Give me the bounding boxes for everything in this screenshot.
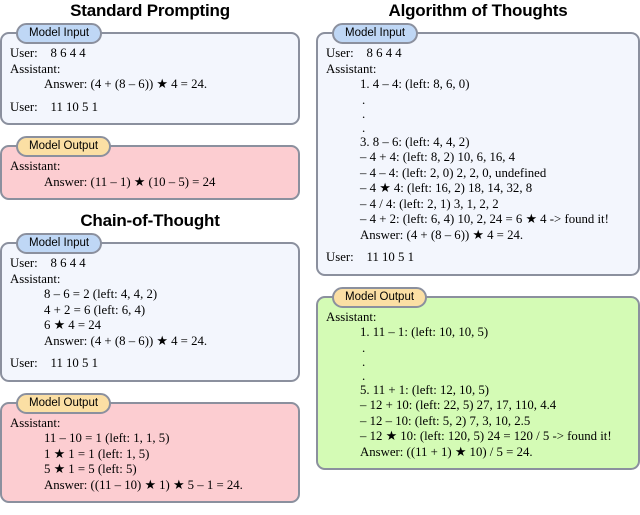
panel-model-output: Model OutputAssistant:1. 11 – 1: (left: … <box>316 296 640 471</box>
panel-body: User: 8 6 4 4Assistant:1. 4 – 4: (left: … <box>318 34 638 274</box>
transcript-line: Answer: ((11 + 1) ★ 10) / 5 = 24. <box>326 445 630 461</box>
role-label: User: <box>326 250 354 266</box>
ellipsis-dot: . <box>326 121 630 135</box>
transcript-line: 5. 11 + 1: (left: 12, 10, 5) <box>326 383 630 399</box>
transcript-role-line: Assistant: <box>10 272 290 288</box>
transcript-line: Answer: (4 + (8 – 6)) ★ 4 = 24. <box>326 228 630 244</box>
transcript-line: 1. 4 – 4: (left: 8, 6, 0) <box>326 77 630 93</box>
line-spacer <box>326 243 630 250</box>
role-label: User: <box>10 256 38 272</box>
role-value: 8 6 4 4 <box>51 46 86 62</box>
panel-tag-model-input: Model Input <box>332 23 418 44</box>
transcript-line: Answer: (4 + (8 – 6)) ★ 4 = 24. <box>10 77 290 93</box>
role-label: Assistant: <box>10 272 60 288</box>
role-value: 11 10 5 1 <box>51 356 99 372</box>
role-value-gap <box>354 46 367 60</box>
role-value-gap <box>38 46 51 60</box>
transcript-role-line: User: 8 6 4 4 <box>10 256 290 272</box>
role-value: 8 6 4 4 <box>51 256 86 272</box>
transcript-role-line: Assistant: <box>326 310 630 326</box>
transcript-line: – 12 + 10: (left: 22, 5) 27, 17, 110, 4.… <box>326 398 630 414</box>
role-value: 11 10 5 1 <box>367 250 415 266</box>
panel-box: Model InputUser: 8 6 4 4Assistant:Answer… <box>0 32 300 125</box>
transcript-line: – 12 ★ 10: (left: 120, 5) 24 = 120 / 5 -… <box>326 429 630 445</box>
transcript-role-line: User: 11 10 5 1 <box>10 100 290 116</box>
transcript-line: 4 + 2 = 6 (left: 6, 4) <box>10 303 290 319</box>
role-value: 11 10 5 1 <box>51 100 99 116</box>
transcript-line: Answer: (11 – 1) ★ (10 – 5) = 24 <box>10 175 290 191</box>
role-value: 8 6 4 4 <box>367 46 402 62</box>
ellipsis-dot: . <box>326 355 630 369</box>
panel-body: Assistant:11 – 10 = 1 (left: 1, 1, 5)1 ★… <box>2 404 298 502</box>
section-title-chain-of-thought: Chain-of-Thought <box>0 212 300 230</box>
panel-box: Model OutputAssistant:Answer: (11 – 1) ★… <box>0 145 300 200</box>
panel-tag-model-input: Model Input <box>16 233 102 254</box>
role-label: User: <box>326 46 354 62</box>
role-value-gap <box>38 356 51 370</box>
figure-root: { "figure": { "columns": [ { "id": "left… <box>0 0 640 515</box>
panel-box: Model InputUser: 8 6 4 4Assistant:8 – 6 … <box>0 242 300 382</box>
transcript-line: – 4 + 2: (left: 6, 4) 10, 2, 24 = 6 ★ 4 … <box>326 212 630 228</box>
transcript-line: – 12 – 10: (left: 5, 2) 7, 3, 10, 2.5 <box>326 414 630 430</box>
transcript-role-line: User: 11 10 5 1 <box>326 250 630 266</box>
role-value-gap <box>354 250 367 264</box>
panel-body: Assistant:1. 11 – 1: (left: 10, 10, 5)..… <box>318 298 638 469</box>
right-column: Algorithm of ThoughtsModel InputUser: 8 … <box>316 0 640 470</box>
transcript-role-line: Assistant: <box>326 62 630 78</box>
panel-model-input: Model InputUser: 8 6 4 4Assistant:8 – 6 … <box>0 242 300 382</box>
panel-box: Model OutputAssistant:1. 11 – 1: (left: … <box>316 296 640 471</box>
panel-model-input: Model InputUser: 8 6 4 4Assistant:Answer… <box>0 32 300 125</box>
transcript-line: – 4 + 4: (left: 8, 2) 10, 6, 16, 4 <box>326 150 630 166</box>
role-label: User: <box>10 100 38 116</box>
role-label: Assistant: <box>10 159 60 175</box>
transcript-line: 3. 8 – 6: (left: 4, 4, 2) <box>326 135 630 151</box>
role-value-gap <box>38 100 51 114</box>
role-label: Assistant: <box>326 310 376 326</box>
panel-body: User: 8 6 4 4Assistant:Answer: (4 + (8 –… <box>2 34 298 123</box>
role-label: User: <box>10 356 38 372</box>
transcript-role-line: Assistant: <box>10 416 290 432</box>
transcript-line: 11 – 10 = 1 (left: 1, 1, 5) <box>10 431 290 447</box>
panel-model-output: Model OutputAssistant:Answer: (11 – 1) ★… <box>0 145 300 200</box>
ellipsis-dot: . <box>326 107 630 121</box>
panel-body: User: 8 6 4 4Assistant:8 – 6 = 2 (left: … <box>2 244 298 380</box>
role-label: Assistant: <box>10 62 60 78</box>
transcript-role-line: Assistant: <box>10 159 290 175</box>
panel-tag-model-output: Model Output <box>332 287 427 308</box>
transcript-role-line: User: 8 6 4 4 <box>10 46 290 62</box>
panel-model-output: Model OutputAssistant:11 – 10 = 1 (left:… <box>0 402 300 504</box>
transcript-role-line: User: 8 6 4 4 <box>326 46 630 62</box>
role-label: User: <box>10 46 38 62</box>
transcript-line: 6 ★ 4 = 24 <box>10 318 290 334</box>
panel-tag-model-output: Model Output <box>16 393 111 414</box>
transcript-line: – 4 – 4: (left: 2, 0) 2, 2, 0, undefined <box>326 166 630 182</box>
ellipsis-dot: . <box>326 341 630 355</box>
panel-tag-model-output: Model Output <box>16 136 111 157</box>
line-spacer <box>10 93 290 100</box>
ellipsis-dot: . <box>326 369 630 383</box>
left-column: Standard PromptingModel InputUser: 8 6 4… <box>0 0 300 503</box>
section-title-algorithm-of-thoughts: Algorithm of Thoughts <box>316 2 640 20</box>
transcript-role-line: User: 11 10 5 1 <box>10 356 290 372</box>
panel-box: Model InputUser: 8 6 4 4Assistant:1. 4 –… <box>316 32 640 276</box>
transcript-role-line: Assistant: <box>10 62 290 78</box>
transcript-line: 5 ★ 1 = 5 (left: 5) <box>10 462 290 478</box>
transcript-line: – 4 / 4: (left: 2, 1) 3, 1, 2, 2 <box>326 197 630 213</box>
transcript-line: 8 – 6 = 2 (left: 4, 4, 2) <box>10 287 290 303</box>
transcript-line: 1 ★ 1 = 1 (left: 1, 5) <box>10 447 290 463</box>
transcript-line: 1. 11 – 1: (left: 10, 10, 5) <box>326 325 630 341</box>
transcript-line: – 4 ★ 4: (left: 16, 2) 18, 14, 32, 8 <box>326 181 630 197</box>
role-value-gap <box>38 256 51 270</box>
role-label: Assistant: <box>326 62 376 78</box>
panel-box: Model OutputAssistant:11 – 10 = 1 (left:… <box>0 402 300 504</box>
panel-model-input: Model InputUser: 8 6 4 4Assistant:1. 4 –… <box>316 32 640 276</box>
transcript-line: Answer: ((11 – 10) ★ 1) ★ 5 – 1 = 24. <box>10 478 290 494</box>
panel-tag-model-input: Model Input <box>16 23 102 44</box>
transcript-line: Answer: (4 + (8 – 6)) ★ 4 = 24. <box>10 334 290 350</box>
role-label: Assistant: <box>10 416 60 432</box>
ellipsis-dot: . <box>326 93 630 107</box>
line-spacer <box>10 349 290 356</box>
section-title-standard-prompting: Standard Prompting <box>0 2 300 20</box>
